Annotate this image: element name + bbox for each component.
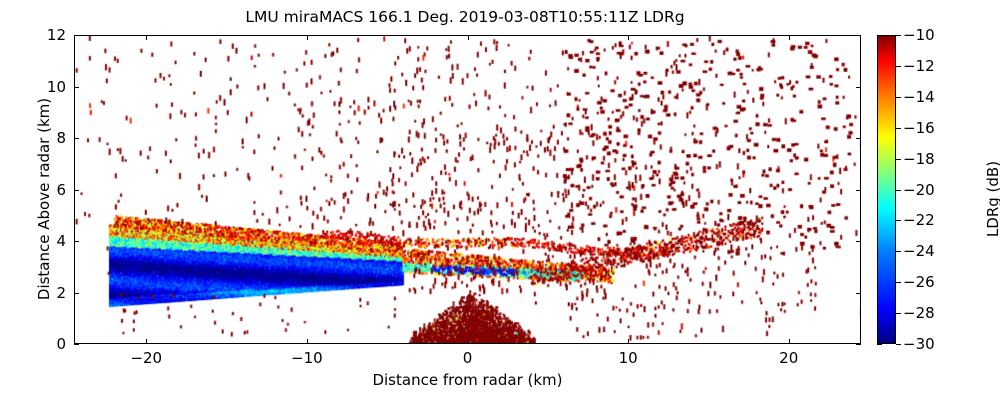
y-tick-mark bbox=[74, 241, 79, 242]
colorbar-tick-mark bbox=[896, 128, 901, 129]
y-tick-mark bbox=[856, 293, 861, 294]
y-tick-mark bbox=[856, 87, 861, 88]
x-tick-mark bbox=[628, 339, 629, 344]
y-tick-mark bbox=[74, 87, 79, 88]
x-tick-mark bbox=[628, 35, 629, 40]
y-tick-label: 12 bbox=[47, 26, 66, 44]
plot-area bbox=[74, 35, 861, 344]
colorbar-tick-label: −22 bbox=[903, 211, 935, 229]
colorbar-tick-label: −12 bbox=[903, 57, 935, 75]
colorbar-tick-mark bbox=[896, 97, 901, 98]
x-tick-label: −20 bbox=[130, 349, 162, 367]
y-tick-label: 2 bbox=[56, 284, 66, 302]
y-tick-mark bbox=[74, 138, 79, 139]
x-tick-label: −10 bbox=[291, 349, 323, 367]
y-axis-label: Distance Above radar (km) bbox=[35, 69, 53, 329]
colorbar-label: LDRg (dB) bbox=[984, 84, 1000, 314]
y-tick-mark bbox=[856, 344, 861, 345]
colorbar-tick-mark bbox=[896, 313, 901, 314]
y-tick-mark bbox=[74, 35, 79, 36]
colorbar-tick-mark bbox=[896, 190, 901, 191]
x-tick-mark bbox=[307, 339, 308, 344]
colorbar-tick-mark bbox=[896, 251, 901, 252]
colorbar-tick-mark bbox=[896, 35, 901, 36]
radar-data-canvas bbox=[75, 36, 860, 343]
y-tick-mark bbox=[856, 241, 861, 242]
colorbar-tick-mark bbox=[896, 66, 901, 67]
colorbar-tick-label: −20 bbox=[903, 181, 935, 199]
colorbar-tick-mark bbox=[896, 282, 901, 283]
y-tick-mark bbox=[856, 138, 861, 139]
colorbar-tick-label: −28 bbox=[903, 304, 935, 322]
x-tick-mark bbox=[468, 35, 469, 40]
x-tick-label: 10 bbox=[619, 349, 638, 367]
colorbar-tick-label: −18 bbox=[903, 150, 935, 168]
colorbar-tick-mark bbox=[896, 220, 901, 221]
colorbar-tick-label: −14 bbox=[903, 88, 935, 106]
y-tick-label: 6 bbox=[56, 181, 66, 199]
y-tick-mark bbox=[74, 190, 79, 191]
x-tick-mark bbox=[789, 35, 790, 40]
y-tick-mark bbox=[856, 35, 861, 36]
colorbar-tick-label: −26 bbox=[903, 273, 935, 291]
x-tick-mark bbox=[146, 35, 147, 40]
y-tick-label: 0 bbox=[56, 335, 66, 353]
x-tick-mark bbox=[146, 339, 147, 344]
y-tick-mark bbox=[74, 293, 79, 294]
colorbar-tick-mark bbox=[896, 159, 901, 160]
x-tick-label: 20 bbox=[779, 349, 798, 367]
colorbar-tick-mark bbox=[877, 344, 882, 345]
x-tick-label: 0 bbox=[463, 349, 473, 367]
x-tick-mark bbox=[468, 339, 469, 344]
y-tick-label: 4 bbox=[56, 232, 66, 250]
colorbar-tick-label: −24 bbox=[903, 242, 935, 260]
x-tick-mark bbox=[307, 35, 308, 40]
y-tick-mark bbox=[856, 190, 861, 191]
page-title: LMU miraMACS 166.1 Deg. 2019-03-08T10:55… bbox=[0, 8, 930, 26]
x-axis-label: Distance from radar (km) bbox=[74, 371, 861, 389]
x-tick-mark bbox=[789, 339, 790, 344]
colorbar-tick-label: −30 bbox=[903, 335, 935, 353]
y-tick-mark bbox=[74, 344, 79, 345]
colorbar-tick-label: −16 bbox=[903, 119, 935, 137]
colorbar-tick-mark bbox=[896, 344, 901, 345]
radar-figure: LMU miraMACS 166.1 Deg. 2019-03-08T10:55… bbox=[0, 0, 1000, 400]
colorbar bbox=[877, 35, 896, 344]
colorbar-tick-label: −10 bbox=[903, 26, 935, 44]
y-tick-label: 8 bbox=[56, 129, 66, 147]
